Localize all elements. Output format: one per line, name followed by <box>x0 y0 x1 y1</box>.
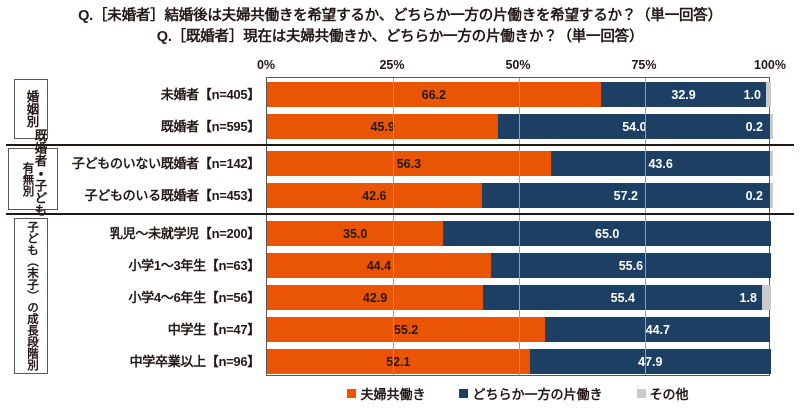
bar-segment-sonota <box>770 183 773 208</box>
chart-title-block: Q.［未婚者］結婚後は夫婦共働きを希望するか、どちらか一方の片働きを希望するか？… <box>0 0 800 48</box>
bar-segment-kyodo: 55.2 <box>267 317 545 342</box>
category-label: 子どものいる既婚者【n=453】 <box>85 182 260 207</box>
bar-segment-kyodo: 44.4 <box>267 253 491 278</box>
page-title-line-2: Q.［既婚者］現在は夫婦共働きか、どちらか一方の片働きか？（単一回答） <box>0 27 800 48</box>
page-title-line-1: Q.［未婚者］結婚後は夫婦共働きを希望するか、どちらか一方の片働きを希望するか？… <box>0 6 800 27</box>
bar-segment-katahataraki: 43.6 <box>551 151 771 176</box>
chart-container: 0%25%50%75%100% 未婚者【n=405】既婚者【n=595】子どもの… <box>0 58 800 409</box>
legend-swatch-icon <box>347 389 356 398</box>
x-axis-tick-100: 100% <box>754 58 786 72</box>
category-label: 中学卒業以上【n=96】 <box>130 348 260 373</box>
bar-segment-kyodo: 52.1 <box>267 349 530 374</box>
category-label: 中学生【n=47】 <box>168 316 260 341</box>
legend-label: どちらか一方の片働き <box>472 384 602 403</box>
legend-item: どちらか一方の片働き <box>459 384 602 403</box>
bar-segment-katahataraki: 57.2 <box>482 183 770 208</box>
category-label: 未婚者【n=405】 <box>161 81 260 106</box>
legend-swatch-icon <box>637 389 646 398</box>
bar-segment-katahataraki: 55.6 <box>491 253 771 278</box>
bar-segment-katahataraki: 32.9 <box>601 82 767 107</box>
bar-segment-katahataraki: 55.4 <box>483 285 762 310</box>
bar-label-sonota: 1.0 <box>744 82 761 107</box>
bar-segment-kyodo: 42.6 <box>267 183 482 208</box>
bar-row: 44.455.6 <box>267 253 769 278</box>
bar-segment-sonota <box>770 151 773 176</box>
legend-label: その他 <box>650 384 689 403</box>
bar-segment-katahataraki: 47.9 <box>530 349 771 374</box>
bar-segment-kyodo: 66.2 <box>267 82 601 107</box>
x-axis-tick-labels: 0%25%50%75%100% <box>266 58 770 76</box>
category-label-column: 未婚者【n=405】既婚者【n=595】子どものいない既婚者【n=142】子ども… <box>0 77 266 376</box>
bar-row: 55.244.7 <box>267 317 769 342</box>
group-label-text: 婚姻別 <box>25 90 38 128</box>
gridline-25 <box>393 78 394 375</box>
category-label: 小学1～3年生【n=63】 <box>128 252 260 277</box>
bar-row: 56.343.6 <box>267 151 769 176</box>
bar-segment-sonota <box>762 285 771 310</box>
bar-segment-kyodo: 35.0 <box>267 221 443 246</box>
gridline-50 <box>519 78 520 375</box>
plot-area: 66.232.91.045.954.00.256.343.642.657.20.… <box>266 77 770 376</box>
category-label: 乳児～未就学児【n=200】 <box>110 220 260 245</box>
bar-label-sonota: 0.2 <box>746 114 763 139</box>
bar-segment-kyodo: 42.9 <box>267 285 483 310</box>
category-label: 子どものいない既婚者【n=142】 <box>72 150 260 175</box>
legend-item: その他 <box>637 384 689 403</box>
group-label-text: 子ども（末子）の成長段階別 <box>25 221 37 371</box>
group-label-box: 子ども（末子）の成長段階別 <box>14 218 48 374</box>
legend-item: 夫婦共働き <box>347 384 425 403</box>
group-separator-2 <box>6 213 794 215</box>
legend-label: 夫婦共働き <box>360 384 425 403</box>
bars-layer: 66.232.91.045.954.00.256.343.642.657.20.… <box>267 78 769 375</box>
bar-row: 52.147.9 <box>267 349 769 374</box>
category-label: 小学4～6年生【n=56】 <box>128 284 260 309</box>
x-axis-tick-25: 25% <box>379 58 404 72</box>
bar-row: 45.954.00.2 <box>267 114 769 139</box>
bar-segment-katahataraki: 44.7 <box>545 317 770 342</box>
x-axis-tick-50: 50% <box>505 58 530 72</box>
x-axis-tick-75: 75% <box>631 58 656 72</box>
group-label-box: 既婚者・子どもの有無別 <box>8 148 58 210</box>
bar-segment-katahataraki: 54.0 <box>498 114 770 139</box>
bar-segment-kyodo: 56.3 <box>267 151 551 176</box>
bar-label-sonota: 0.2 <box>746 183 763 208</box>
chart-legend: 夫婦共働きどちらか一方の片働きその他 <box>266 382 770 404</box>
bar-label-sonota: 1.8 <box>740 285 757 310</box>
group-separator-1 <box>6 144 794 146</box>
bar-row: 42.955.41.8 <box>267 285 769 310</box>
group-label-text-secondary: 有無別 <box>21 162 33 197</box>
category-label: 既婚者【n=595】 <box>161 113 260 138</box>
bar-segment-sonota <box>770 114 773 139</box>
gridline-75 <box>645 78 646 375</box>
legend-swatch-icon <box>459 389 468 398</box>
bar-segment-kyodo: 45.9 <box>267 114 498 139</box>
bar-segment-katahataraki: 65.0 <box>443 221 771 246</box>
bar-row: 35.065.0 <box>267 221 769 246</box>
bar-segment-sonota <box>766 82 771 107</box>
bar-row: 66.232.91.0 <box>267 82 769 107</box>
x-axis-tick-0: 0% <box>257 58 275 72</box>
bar-row: 42.657.20.2 <box>267 183 769 208</box>
